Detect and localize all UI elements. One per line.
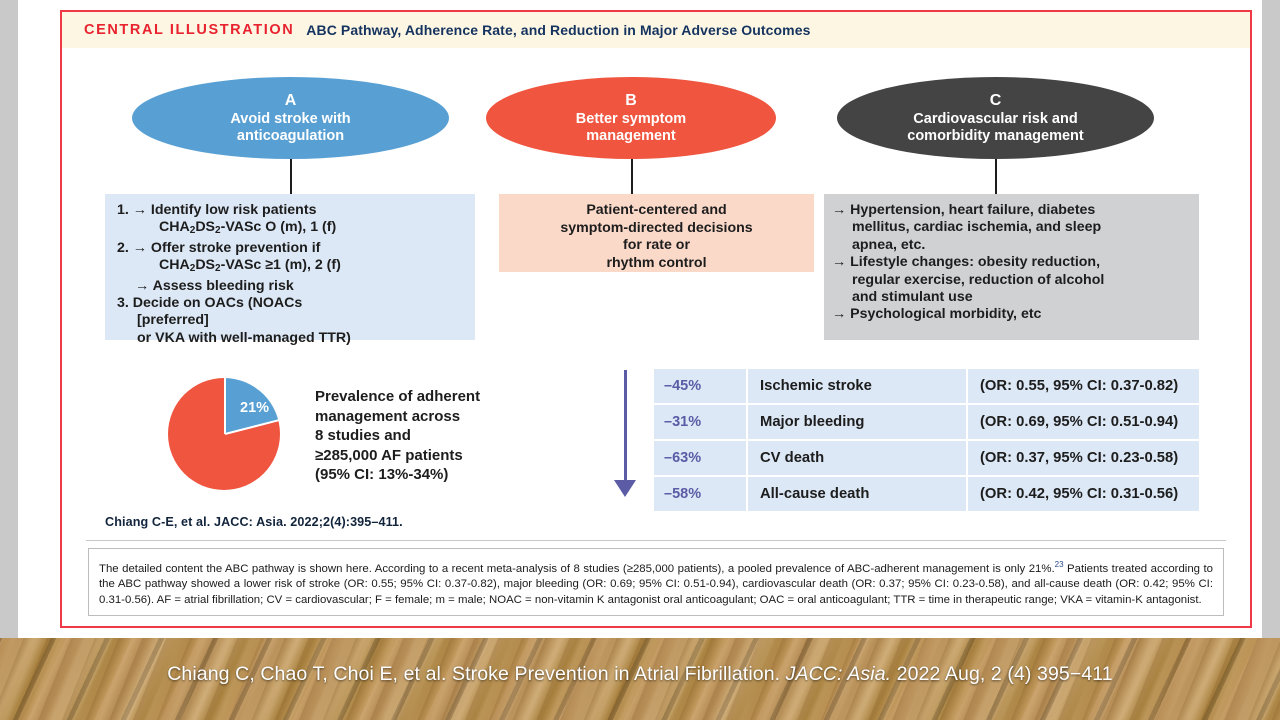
pathway-node-c: C Cardiovascular risk and comorbidity ma… <box>837 77 1154 159</box>
pathway-title-c-line1: Cardiovascular risk and <box>913 111 1077 129</box>
slide-caption-suffix: 2022 Aug, 2 (4) 395−411 <box>891 663 1113 685</box>
pathway-title-b-line1: Better symptom <box>576 111 686 129</box>
detail-line: → Lifestyle changes: obesity reduction, <box>832 254 1189 271</box>
annotation-line: 8 studies and <box>315 426 565 446</box>
annotation-line: Prevalence of adherent <box>315 387 565 407</box>
outcome-name: Ischemic stroke <box>748 369 966 403</box>
detail-line: rhythm control <box>509 255 804 273</box>
footnote-divider <box>86 540 1226 541</box>
pathway-detail-a-list: 1. → Identify low risk patients CHA2DS2-… <box>117 202 465 347</box>
central-illustration-label: CENTRAL ILLUSTRATION <box>84 22 294 38</box>
outcome-reduction: –63% <box>654 441 746 475</box>
pathway-node-a: A Avoid stroke with anticoagulation <box>132 77 449 159</box>
pie-slice-label: 21% <box>240 400 269 416</box>
outcome-reduction: –45% <box>654 369 746 403</box>
slide-caption: Chiang C, Chao T, Choi E, et al. Stroke … <box>0 661 1280 687</box>
pathway-title-a-line1: Avoid stroke with <box>230 111 350 129</box>
detail-line: mellitus, cardiac ischemia, and sleep <box>832 219 1189 236</box>
slide-caption-journal: JACC: Asia. <box>786 663 891 685</box>
illustration-header: CENTRAL ILLUSTRATION ABC Pathway, Adhere… <box>62 12 1250 48</box>
pathway-node-b: B Better symptom management <box>486 77 776 159</box>
pathway-detail-a: 1. → Identify low risk patients CHA2DS2-… <box>105 194 475 340</box>
annotation-line: management across <box>315 407 565 427</box>
detail-line: → Psychological morbidity, etc <box>832 306 1189 323</box>
detail-line: or VKA with well-managed TTR) <box>117 330 465 347</box>
pathway-letter-c: C <box>990 91 1002 110</box>
table-row: –45% Ischemic stroke (OR: 0.55, 95% CI: … <box>654 369 1199 403</box>
outcome-reduction: –31% <box>654 405 746 439</box>
footnote-text: The detailed content the ABC pathway is … <box>88 548 1224 616</box>
detail-line: regular exercise, reduction of alcohol <box>832 272 1189 289</box>
table-row: –58% All-cause death (OR: 0.42, 95% CI: … <box>654 477 1199 511</box>
footnote-reference-number: 23 <box>1055 560 1064 569</box>
pathway-letter-a: A <box>285 91 297 110</box>
connector-line-c <box>995 159 997 195</box>
slide-stage: Chiang C, Chao T, Choi E, et al. Stroke … <box>0 0 1280 720</box>
pathway-title-a-line2: anticoagulation <box>237 128 344 146</box>
wood-background: Chiang C, Chao T, Choi E, et al. Stroke … <box>0 638 1280 720</box>
outcome-statistic: (OR: 0.37, 95% CI: 0.23-0.58) <box>968 441 1199 475</box>
annotation-line: ≥285,000 AF patients <box>315 446 565 466</box>
source-citation: Chiang C-E, et al. JACC: Asia. 2022;2(4)… <box>105 515 403 529</box>
detail-line: symptom-directed decisions <box>509 220 804 238</box>
table-row: –31% Major bleeding (OR: 0.69, 95% CI: 0… <box>654 405 1199 439</box>
illustration-subtitle: ABC Pathway, Adherence Rate, and Reducti… <box>306 22 810 38</box>
detail-line: for rate or <box>509 237 804 255</box>
detail-line: CHA2DS2-VASc ≥1 (m), 2 (f) <box>117 257 465 277</box>
detail-line: 2. → Offer stroke prevention if <box>117 240 465 257</box>
table-row: –63% CV death (OR: 0.37, 95% CI: 0.23-0.… <box>654 441 1199 475</box>
pathway-detail-c-list: → Hypertension, heart failure, diabetes … <box>832 202 1189 324</box>
detail-line: apnea, etc. <box>832 237 1189 254</box>
annotation-line: (95% CI: 13%-34%) <box>315 465 565 485</box>
outcomes-table: –45% Ischemic stroke (OR: 0.55, 95% CI: … <box>654 369 1199 513</box>
down-arrow-shaft <box>624 370 627 488</box>
pathway-letter-b: B <box>625 91 637 110</box>
detail-line: CHA2DS2-VASc O (m), 1 (f) <box>117 219 465 239</box>
central-illustration-frame: CENTRAL ILLUSTRATION ABC Pathway, Adhere… <box>60 10 1252 628</box>
outcome-name: All-cause death <box>748 477 966 511</box>
outcome-name: Major bleeding <box>748 405 966 439</box>
detail-line: Patient-centered and <box>509 202 804 220</box>
pathway-detail-b: Patient-centered and symptom-directed de… <box>499 194 814 272</box>
detail-line: 3. Decide on OACs (NOACs <box>117 295 465 312</box>
outcome-name: CV death <box>748 441 966 475</box>
pathway-detail-c: → Hypertension, heart failure, diabetes … <box>824 194 1199 340</box>
outcome-statistic: (OR: 0.42, 95% CI: 0.31-0.56) <box>968 477 1199 511</box>
pathway-title-c-line2: comorbidity management <box>907 128 1083 146</box>
connector-line-a <box>290 159 292 195</box>
detail-line: → Hypertension, heart failure, diabetes <box>832 202 1189 219</box>
down-arrow-icon <box>614 480 636 497</box>
adherence-pie-chart <box>168 378 280 490</box>
detail-line: 1. → Identify low risk patients <box>117 202 465 219</box>
outcome-reduction: –58% <box>654 477 746 511</box>
detail-line: and stimulant use <box>832 289 1189 306</box>
detail-line: → Assess bleeding risk <box>117 278 465 295</box>
footnote-part1: The detailed content the ABC pathway is … <box>99 563 1055 575</box>
pie-annotation: Prevalence of adherent management across… <box>315 387 565 485</box>
slide-caption-prefix: Chiang C, Chao T, Choi E, et al. Stroke … <box>167 663 785 685</box>
pie-separator <box>224 378 226 434</box>
slide-body: CENTRAL ILLUSTRATION ABC Pathway, Adhere… <box>18 0 1262 638</box>
connector-line-b <box>631 159 633 195</box>
detail-line: [preferred] <box>117 312 465 329</box>
outcome-statistic: (OR: 0.69, 95% CI: 0.51-0.94) <box>968 405 1199 439</box>
pathway-title-b-line2: management <box>586 128 675 146</box>
pie-separator <box>225 419 280 435</box>
outcome-statistic: (OR: 0.55, 95% CI: 0.37-0.82) <box>968 369 1199 403</box>
